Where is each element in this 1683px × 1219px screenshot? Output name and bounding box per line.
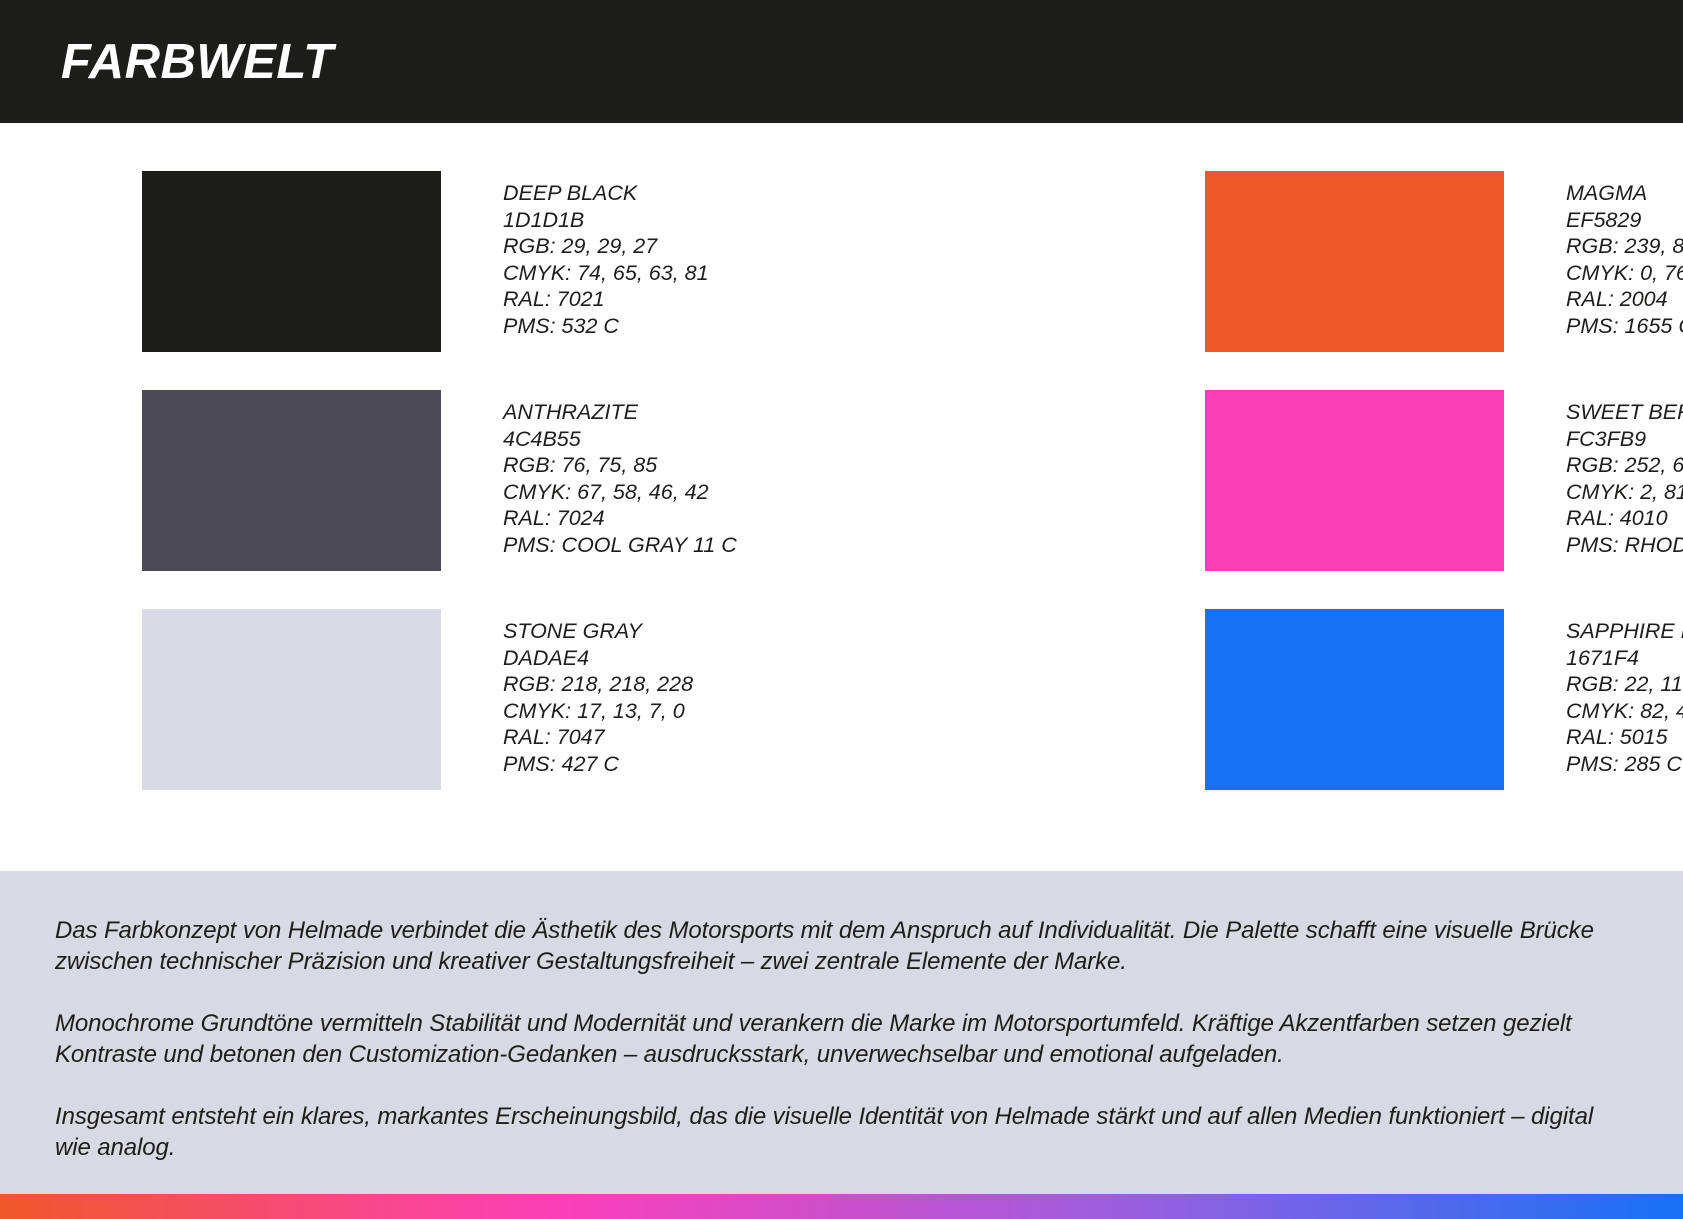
- color-info: MAGMA EF5829 RGB: 239, 88, 41 CMYK: 0, 7…: [1566, 171, 1683, 339]
- color-rgb: RGB: 252, 63, 185: [1566, 452, 1683, 479]
- color-ral: RAL: 5015: [1566, 724, 1683, 751]
- color-pms: PMS: 1655 C: [1566, 313, 1683, 340]
- color-chip: [1205, 171, 1504, 352]
- color-name: SAPPHIRE BLUE: [1566, 618, 1683, 645]
- color-cmyk: CMYK: 67, 58, 46, 42: [503, 479, 737, 506]
- color-hex: FC3FB9: [1566, 426, 1683, 453]
- color-hex: DADAE4: [503, 645, 693, 672]
- color-rgb: RGB: 239, 88, 41: [1566, 233, 1683, 260]
- color-cmyk: CMYK: 0, 76, 87, 0: [1566, 260, 1683, 287]
- color-cmyk: CMYK: 17, 13, 7, 0: [503, 698, 693, 725]
- description-panel: Das Farbkonzept von Helmade verbindet di…: [0, 871, 1683, 1194]
- color-swatch-card: SAPPHIRE BLUE 1671F4 RGB: 22, 113, 244 C…: [1205, 609, 1683, 828]
- color-info: STONE GRAY DADAE4 RGB: 218, 218, 228 CMY…: [503, 609, 693, 777]
- color-pms: PMS: 427 C: [503, 751, 693, 778]
- color-swatch-area: DEEP BLACK 1D1D1B RGB: 29, 29, 27 CMYK: …: [0, 123, 1683, 871]
- brand-gradient-bar: [0, 1194, 1683, 1219]
- color-ral: RAL: 7024: [503, 505, 737, 532]
- color-swatch-card: MAGMA EF5829 RGB: 239, 88, 41 CMYK: 0, 7…: [1205, 171, 1683, 390]
- color-swatch-card: ANTHRAZITE 4C4B55 RGB: 76, 75, 85 CMYK: …: [142, 390, 1205, 609]
- page-header: FARBWELT: [0, 0, 1683, 123]
- color-ral: RAL: 4010: [1566, 505, 1683, 532]
- color-pms: PMS: COOL GRAY 11 C: [503, 532, 737, 559]
- color-swatch-card: DEEP BLACK 1D1D1B RGB: 29, 29, 27 CMYK: …: [142, 171, 1205, 390]
- color-rgb: RGB: 22, 113, 244: [1566, 671, 1683, 698]
- color-swatch-card: STONE GRAY DADAE4 RGB: 218, 218, 228 CMY…: [142, 609, 1205, 828]
- color-cmyk: CMYK: 74, 65, 63, 81: [503, 260, 709, 287]
- color-name: STONE GRAY: [503, 618, 693, 645]
- color-info: SWEET BERRY RED FC3FB9 RGB: 252, 63, 185…: [1566, 390, 1683, 558]
- color-name: ANTHRAZITE: [503, 399, 737, 426]
- color-cmyk: CMYK: 2, 81, 0, 0: [1566, 479, 1683, 506]
- color-rgb: RGB: 218, 218, 228: [503, 671, 693, 698]
- description-paragraph: Insgesamt entsteht ein klares, markantes…: [55, 1101, 1595, 1163]
- color-hex: EF5829: [1566, 207, 1683, 234]
- color-info: ANTHRAZITE 4C4B55 RGB: 76, 75, 85 CMYK: …: [503, 390, 737, 558]
- color-info: DEEP BLACK 1D1D1B RGB: 29, 29, 27 CMYK: …: [503, 171, 709, 339]
- color-cmyk: CMYK: 82, 46, 0, 0: [1566, 698, 1683, 725]
- color-pms: PMS: RHOD. RED C: [1566, 532, 1683, 559]
- color-rgb: RGB: 76, 75, 85: [503, 452, 737, 479]
- color-chip: [1205, 609, 1504, 790]
- color-chip: [142, 171, 441, 352]
- color-ral: RAL: 7047: [503, 724, 693, 751]
- color-info: SAPPHIRE BLUE 1671F4 RGB: 22, 113, 244 C…: [1566, 609, 1683, 777]
- color-name: SWEET BERRY RED: [1566, 399, 1683, 426]
- color-ral: RAL: 7021: [503, 286, 709, 313]
- description-paragraph: Monochrome Grundtöne vermitteln Stabilit…: [55, 1008, 1595, 1070]
- color-hex: 4C4B55: [503, 426, 737, 453]
- color-hex: 1D1D1B: [503, 207, 709, 234]
- color-swatch-grid: DEEP BLACK 1D1D1B RGB: 29, 29, 27 CMYK: …: [142, 171, 1683, 828]
- color-pms: PMS: 532 C: [503, 313, 709, 340]
- color-chip: [142, 390, 441, 571]
- color-pms: PMS: 285 C: [1566, 751, 1683, 778]
- color-hex: 1671F4: [1566, 645, 1683, 672]
- color-name: MAGMA: [1566, 180, 1683, 207]
- farbwelt-page: FARBWELT DEEP BLACK 1D1D1B RGB: 29, 29, …: [0, 0, 1683, 1190]
- description-paragraph: Das Farbkonzept von Helmade verbindet di…: [55, 915, 1595, 977]
- color-chip: [142, 609, 441, 790]
- color-ral: RAL: 2004: [1566, 286, 1683, 313]
- page-title: FARBWELT: [61, 34, 334, 90]
- color-rgb: RGB: 29, 29, 27: [503, 233, 709, 260]
- color-name: DEEP BLACK: [503, 180, 709, 207]
- color-swatch-card: SWEET BERRY RED FC3FB9 RGB: 252, 63, 185…: [1205, 390, 1683, 609]
- color-chip: [1205, 390, 1504, 571]
